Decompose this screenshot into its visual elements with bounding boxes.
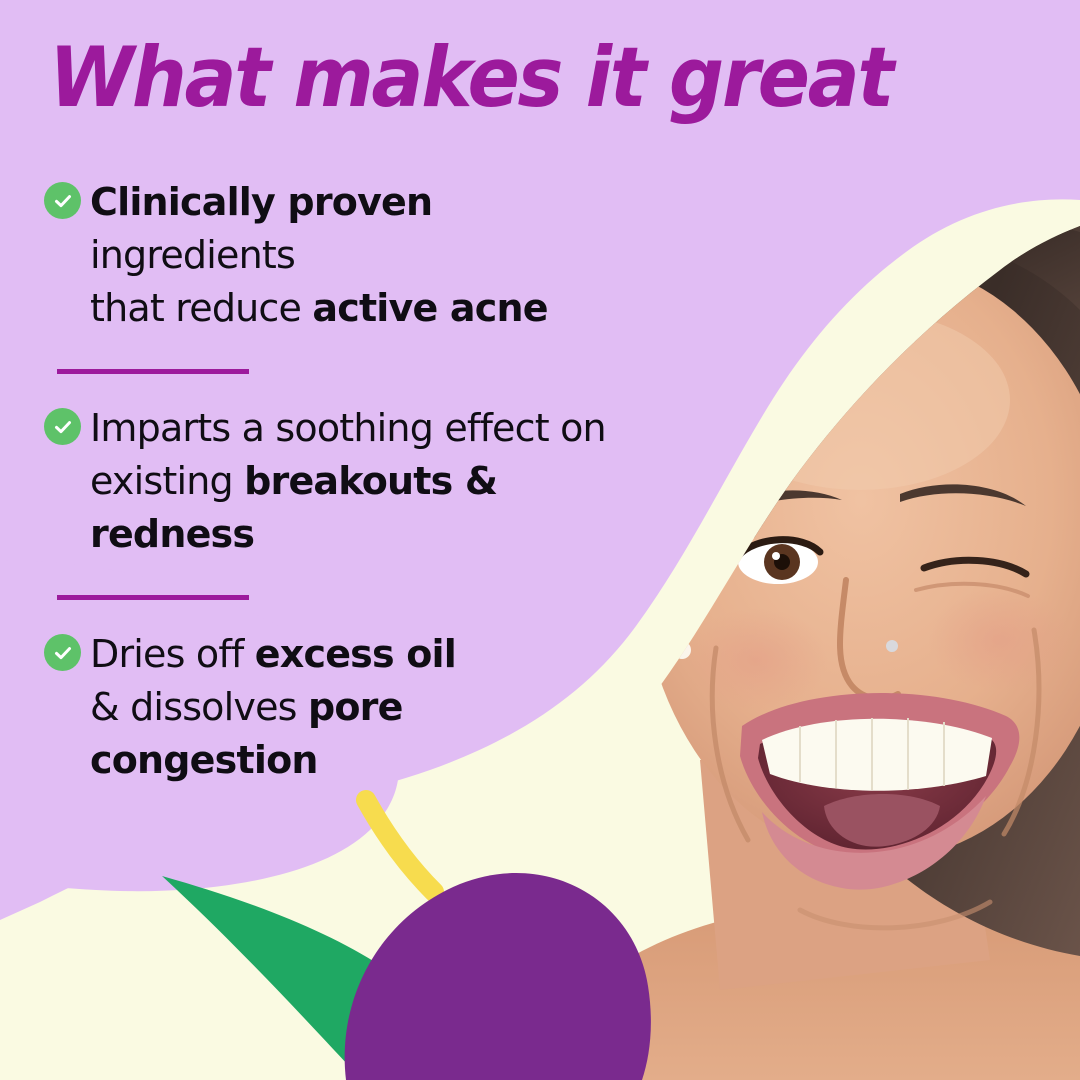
check-circle-icon	[44, 182, 81, 219]
benefit-item-3: Dries off excess oil & dissolves pore co…	[0, 628, 640, 787]
benefit-item-2: Imparts a soothing effect on existing br…	[0, 402, 640, 561]
content-layer: What makes it great Clinically proven in…	[0, 0, 1080, 1080]
check-circle-icon	[44, 408, 81, 445]
benefit-item-1: Clinically proven ingredients that reduc…	[0, 176, 640, 335]
spacer	[0, 374, 640, 402]
benefit-text-1: Clinically proven ingredients that reduc…	[90, 176, 640, 335]
spacer	[0, 561, 640, 595]
page-title: What makes it great	[49, 36, 892, 119]
spacer	[0, 335, 640, 369]
spacer	[0, 600, 640, 628]
benefits-list: Clinically proven ingredients that reduc…	[0, 176, 640, 787]
ad-creative-canvas: What makes it great Clinically proven in…	[0, 0, 1080, 1080]
check-circle-icon	[44, 634, 81, 671]
benefit-text-2: Imparts a soothing effect on existing br…	[90, 402, 640, 561]
benefit-text-3: Dries off excess oil & dissolves pore co…	[90, 628, 640, 787]
